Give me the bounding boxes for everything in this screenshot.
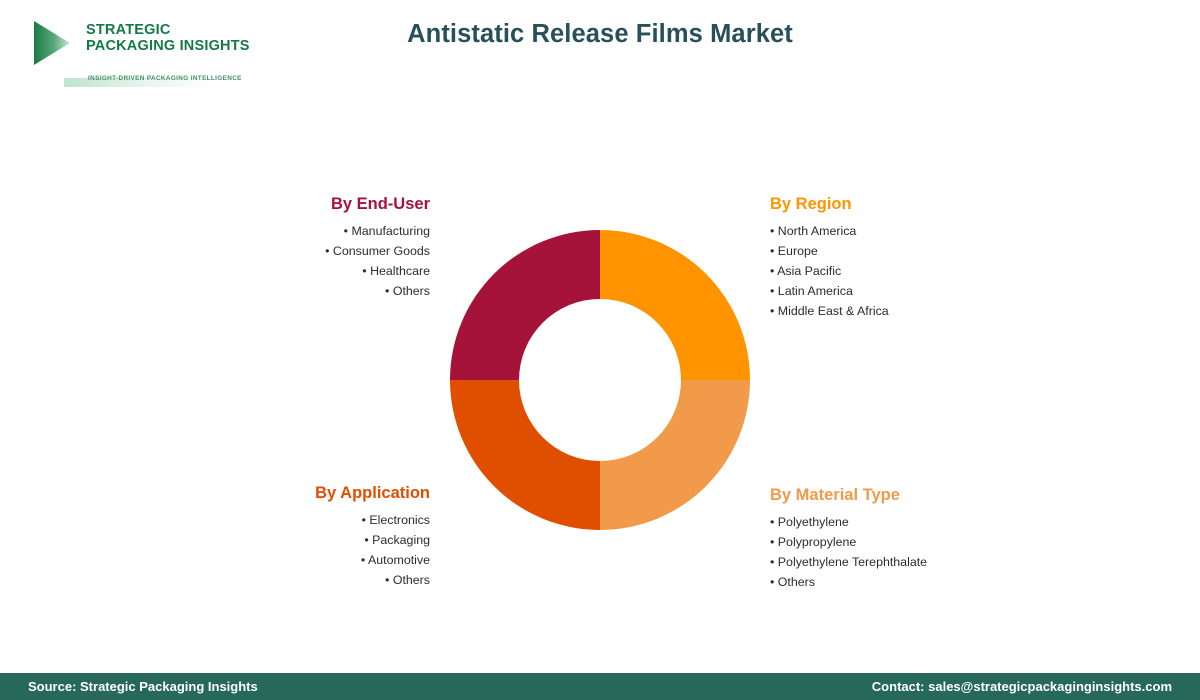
list-item: • Polyethylene Terephthalate — [770, 552, 927, 572]
segment-region-title: By Region — [770, 194, 889, 214]
donut-chart — [450, 230, 750, 530]
list-item-label: Polypropylene — [778, 535, 857, 549]
bullet-icon: • — [770, 284, 774, 298]
list-item: • Manufacturing — [325, 221, 430, 241]
list-item-label: Consumer Goods — [333, 244, 430, 258]
bullet-icon: • — [770, 304, 774, 318]
list-item: • Polyethylene — [770, 512, 927, 532]
segment-application: By Application • Electronics • Packaging… — [315, 483, 430, 590]
list-item: • Others — [770, 572, 927, 592]
bullet-icon: • — [362, 513, 366, 527]
bullet-icon: • — [362, 264, 366, 278]
list-item-label: Others — [393, 284, 430, 298]
list-item-label: Manufacturing — [351, 224, 430, 238]
logo-tagline: INSIGHT-DRIVEN PACKAGING INTELLIGENCE — [88, 75, 242, 82]
donut-slice — [450, 380, 600, 530]
segment-end-user: By End-User • Manufacturing • Consumer G… — [325, 194, 430, 301]
donut-slice — [450, 230, 600, 380]
list-item-label: Latin America — [778, 284, 853, 298]
list-item-label: Middle East & Africa — [778, 304, 889, 318]
bullet-icon: • — [385, 573, 389, 587]
segment-material-type-list: • Polyethylene • Polypropylene • Polyeth… — [770, 512, 927, 592]
list-item-label: Europe — [778, 244, 818, 258]
footer-source: Source: Strategic Packaging Insights — [28, 679, 258, 694]
segment-end-user-title: By End-User — [325, 194, 430, 214]
segment-region: By Region • North America • Europe • Asi… — [770, 194, 889, 321]
bullet-icon: • — [364, 533, 368, 547]
bullet-icon: • — [385, 284, 389, 298]
list-item: • Packaging — [315, 530, 430, 550]
bullet-icon: • — [770, 575, 774, 589]
bullet-icon: • — [770, 515, 774, 529]
list-item: • Latin America — [770, 281, 889, 301]
list-item: • Middle East & Africa — [770, 301, 889, 321]
list-item-label: Automotive — [368, 553, 430, 567]
list-item: • Automotive — [315, 550, 430, 570]
list-item: • Europe — [770, 241, 889, 261]
list-item: • North America — [770, 221, 889, 241]
footer-contact: Contact: sales@strategicpackaginginsight… — [872, 679, 1172, 694]
list-item: • Others — [325, 281, 430, 301]
page-title: Antistatic Release Films Market — [0, 20, 1200, 49]
list-item-label: Polyethylene — [778, 515, 849, 529]
donut-slice — [600, 380, 750, 530]
bullet-icon: • — [770, 244, 774, 258]
donut-slice — [600, 230, 750, 380]
donut-chart-svg — [450, 230, 750, 530]
list-item-label: Electronics — [369, 513, 430, 527]
list-item-label: Packaging — [372, 533, 430, 547]
list-item-label: Polyethylene Terephthalate — [778, 555, 927, 569]
list-item-label: Asia Pacific — [777, 264, 841, 278]
bullet-icon: • — [325, 244, 329, 258]
list-item-label: Others — [393, 573, 430, 587]
list-item-label: Healthcare — [370, 264, 430, 278]
bullet-icon: • — [361, 553, 365, 567]
list-item-label: Others — [778, 575, 815, 589]
bullet-icon: • — [770, 264, 774, 278]
segment-end-user-list: • Manufacturing • Consumer Goods • Healt… — [325, 221, 430, 301]
list-item-label: North America — [778, 224, 857, 238]
segment-region-list: • North America • Europe • Asia Pacific … — [770, 221, 889, 321]
segment-application-title: By Application — [315, 483, 430, 503]
list-item: • Electronics — [315, 510, 430, 530]
bullet-icon: • — [770, 535, 774, 549]
list-item: • Others — [315, 570, 430, 590]
segment-application-list: • Electronics • Packaging • Automotive •… — [315, 510, 430, 590]
bullet-icon: • — [770, 555, 774, 569]
bullet-icon: • — [770, 224, 774, 238]
list-item: • Healthcare — [325, 261, 430, 281]
footer-bar: Source: Strategic Packaging Insights Con… — [0, 673, 1200, 700]
list-item: • Asia Pacific — [770, 261, 889, 281]
list-item: • Consumer Goods — [325, 241, 430, 261]
segment-material-type: By Material Type • Polyethylene • Polypr… — [770, 485, 927, 592]
infographic-page: STRATEGIC PACKAGING INSIGHTS INSIGHT-DRI… — [0, 0, 1200, 700]
list-item: • Polypropylene — [770, 532, 927, 552]
bullet-icon: • — [344, 224, 348, 238]
segment-material-type-title: By Material Type — [770, 485, 927, 505]
